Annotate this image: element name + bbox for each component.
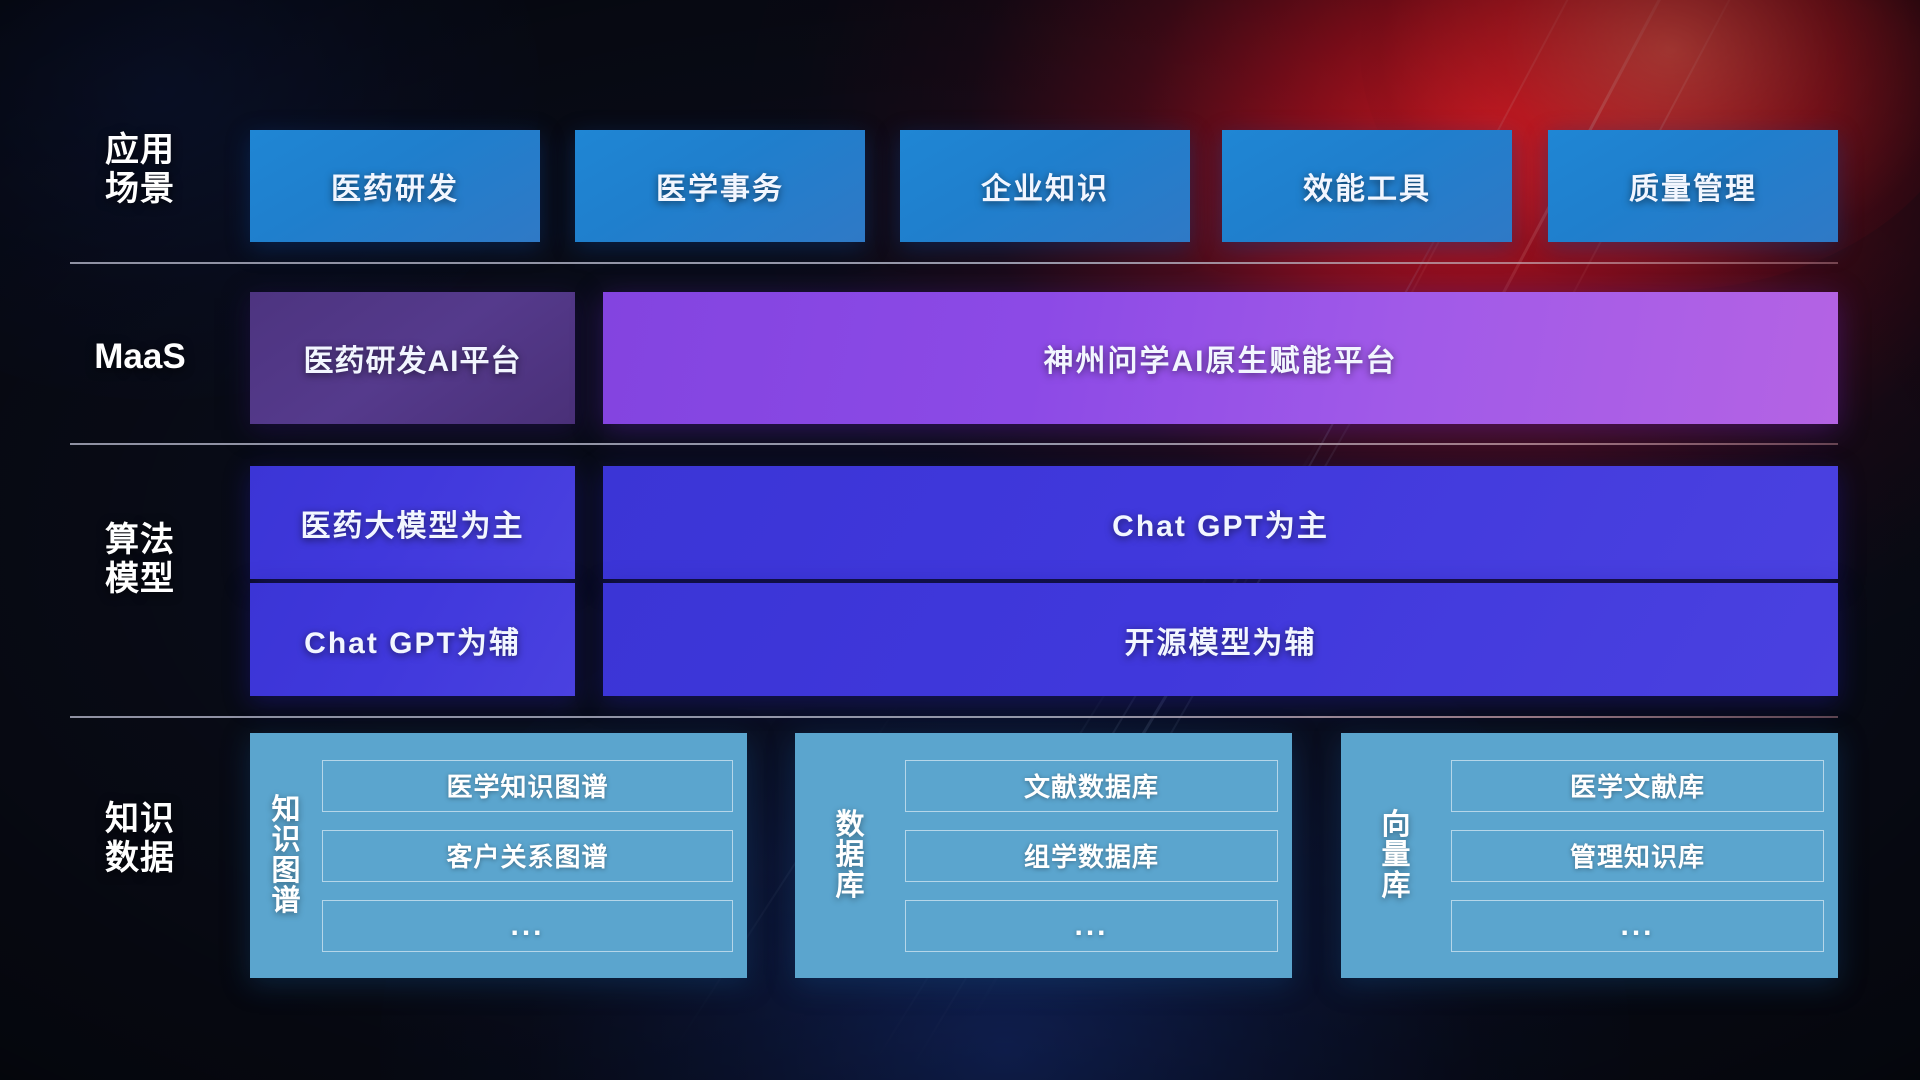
algo-card-primary-general[interactable]: Chat GPT为主 bbox=[603, 466, 1838, 579]
maas-enablement-platform-bar[interactable]: 神州问学AI原生赋能平台 bbox=[603, 292, 1838, 424]
algo-card-secondary-general[interactable]: 开源模型为辅 bbox=[603, 583, 1838, 696]
separator-3 bbox=[70, 716, 1838, 718]
knowledge-item-list: 文献数据库 组学数据库 ... bbox=[905, 760, 1278, 952]
row-label-application-scenarios: 应用 场景 bbox=[80, 131, 200, 210]
knowledge-item-more[interactable]: ... bbox=[322, 900, 733, 952]
knowledge-group-database: 数 据 库 文献数据库 组学数据库 ... bbox=[795, 733, 1292, 978]
app-card-2[interactable]: 医学事务 bbox=[575, 130, 865, 242]
row-label-algorithm-model: 算法 模型 bbox=[80, 521, 200, 600]
knowledge-item[interactable]: 医学文献库 bbox=[1451, 760, 1824, 812]
knowledge-group-vector-store: 向 量 库 医学文献库 管理知识库 ... bbox=[1341, 733, 1838, 978]
knowledge-item[interactable]: 文献数据库 bbox=[905, 760, 1278, 812]
knowledge-item[interactable]: 客户关系图谱 bbox=[322, 830, 733, 882]
separator-1 bbox=[70, 262, 1838, 264]
knowledge-item-list: 医学文献库 管理知识库 ... bbox=[1451, 760, 1824, 952]
knowledge-item[interactable]: 管理知识库 bbox=[1451, 830, 1824, 882]
knowledge-item[interactable]: 组学数据库 bbox=[905, 830, 1278, 882]
algo-card-secondary-domain[interactable]: Chat GPT为辅 bbox=[250, 583, 575, 696]
algo-card-primary-domain[interactable]: 医药大模型为主 bbox=[250, 466, 575, 579]
app-card-4[interactable]: 效能工具 bbox=[1222, 130, 1512, 242]
knowledge-group-label: 数 据 库 bbox=[795, 810, 905, 901]
row-label-maas: MaaS bbox=[72, 337, 208, 378]
knowledge-item-list: 医学知识图谱 客户关系图谱 ... bbox=[322, 760, 733, 952]
knowledge-item[interactable]: 医学知识图谱 bbox=[322, 760, 733, 812]
knowledge-group-label: 向 量 库 bbox=[1341, 810, 1451, 901]
knowledge-group-label: 知 识 图 谱 bbox=[250, 795, 322, 917]
maas-platform-card[interactable]: 医药研发AI平台 bbox=[250, 292, 575, 424]
app-card-1[interactable]: 医药研发 bbox=[250, 130, 540, 242]
separator-2 bbox=[70, 443, 1838, 445]
app-card-5[interactable]: 质量管理 bbox=[1548, 130, 1838, 242]
app-card-3[interactable]: 企业知识 bbox=[900, 130, 1190, 242]
row-label-knowledge-data: 知识 数据 bbox=[80, 800, 200, 879]
knowledge-group-knowledge-graph: 知 识 图 谱 医学知识图谱 客户关系图谱 ... bbox=[250, 733, 747, 978]
knowledge-item-more[interactable]: ... bbox=[1451, 900, 1824, 952]
knowledge-item-more[interactable]: ... bbox=[905, 900, 1278, 952]
architecture-diagram: 应用 场景 医药研发 医学事务 企业知识 效能工具 质量管理 MaaS 医药研发… bbox=[0, 0, 1920, 1080]
